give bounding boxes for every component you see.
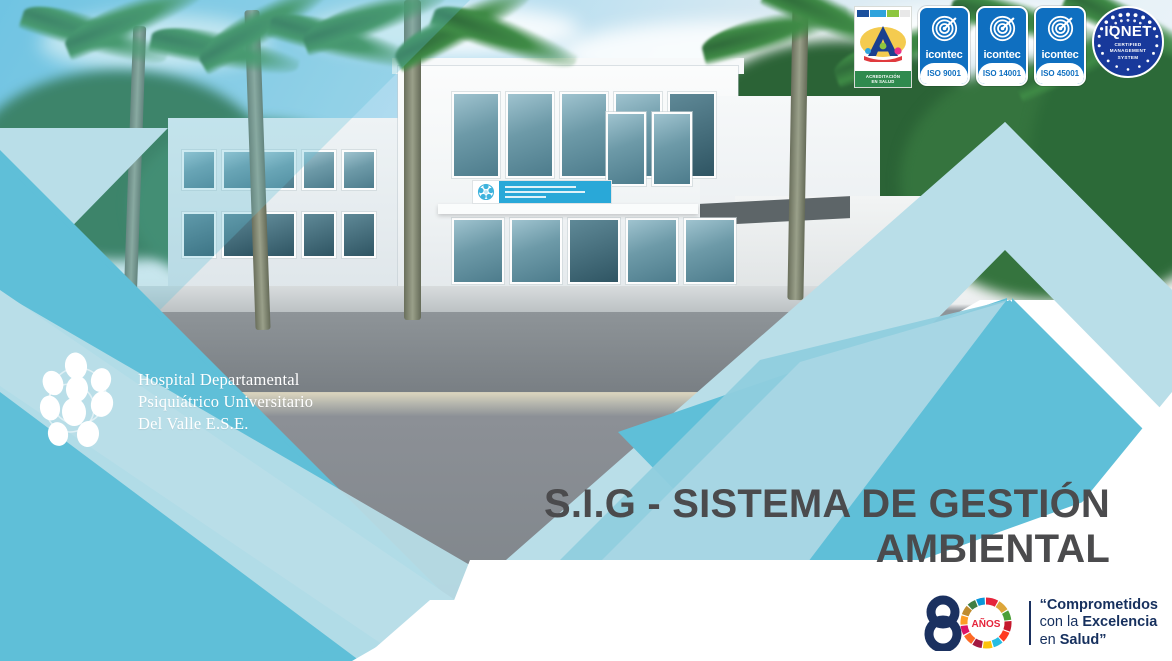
slide-root: Hospital Departamental Psiquiátrico Univ… <box>0 0 1172 661</box>
anniversary-tagline: “Comprometidos con la Excelencia en Salu… <box>1040 597 1158 648</box>
icontec-standard: ISO 14001 <box>978 63 1026 84</box>
logo-line-1: Hospital Departamental <box>138 369 313 391</box>
acred-footer-line-2: EN SALUD <box>871 79 894 84</box>
tagline-line-3-thin: en <box>1040 632 1060 648</box>
icontec-target-icon <box>989 15 1016 47</box>
certification-badges: ACREDITACIÓN EN SALUD icontec ISO 9001 <box>854 6 1164 88</box>
tagline-line-2-bold: Excelencia <box>1082 614 1157 630</box>
hospital-cell-cluster-logo-icon <box>36 352 120 452</box>
logo-line-3: Del Valle E.S.E. <box>138 413 313 435</box>
acreditacion-en-salud-badge: ACREDITACIÓN EN SALUD <box>854 6 912 88</box>
tagline-line-3-bold: Salud” <box>1060 632 1107 648</box>
tagline-line-2-thin: con la <box>1040 614 1083 630</box>
acred-footer: ACREDITACIÓN EN SALUD <box>855 71 911 87</box>
logo-line-2: Psiquiátrico Universitario <box>138 391 313 413</box>
title-line-2: AMBIENTAL <box>470 527 1110 572</box>
80-anos-sdg-wheel-icon: AÑOS <box>916 595 1020 651</box>
icontec-name: icontec <box>1041 49 1078 61</box>
hospital-logo-text: Hospital Departamental Psiquiátrico Univ… <box>138 369 313 434</box>
icontec-name: icontec <box>925 49 962 61</box>
title-line-1: S.I.G - SISTEMA DE GESTIÓN <box>470 482 1110 527</box>
iqnet-sub-line-3: SYSTEM <box>1118 55 1139 60</box>
iqnet-sub-line-1: CERTIFIED <box>1115 42 1142 47</box>
acred-emblem-icon <box>858 20 908 62</box>
iqnet-badge: IQNET CERTIFIED MANAGEMENT SYSTEM <box>1092 6 1164 78</box>
icontec-iso45001-badge: icontec ISO 45001 <box>1034 6 1086 86</box>
anniversary-block: AÑOS “Comprometidos con la Excelencia en… <box>916 595 1158 651</box>
hospital-logo-block: Hospital Departamental Psiquiátrico Univ… <box>36 352 313 452</box>
acred-header-strip <box>857 10 910 17</box>
icontec-standard: ISO 9001 <box>920 63 968 84</box>
icontec-iso9001-badge: icontec ISO 9001 <box>918 6 970 86</box>
anniversary-inner-label: AÑOS <box>971 617 1000 630</box>
iqnet-name: IQNET <box>1104 23 1151 40</box>
icontec-target-icon <box>931 15 958 47</box>
page-title: S.I.G - SISTEMA DE GESTIÓN AMBIENTAL <box>470 482 1110 572</box>
icontec-standard: ISO 45001 <box>1036 63 1084 84</box>
tagline-line-1: “Comprometidos <box>1040 597 1158 613</box>
iqnet-sub-line-2: MANAGEMENT <box>1110 48 1146 53</box>
icontec-iso14001-badge: icontec ISO 14001 <box>976 6 1028 86</box>
icontec-target-icon <box>1047 15 1074 47</box>
icontec-name: icontec <box>983 49 1020 61</box>
anniversary-divider <box>1029 601 1031 645</box>
